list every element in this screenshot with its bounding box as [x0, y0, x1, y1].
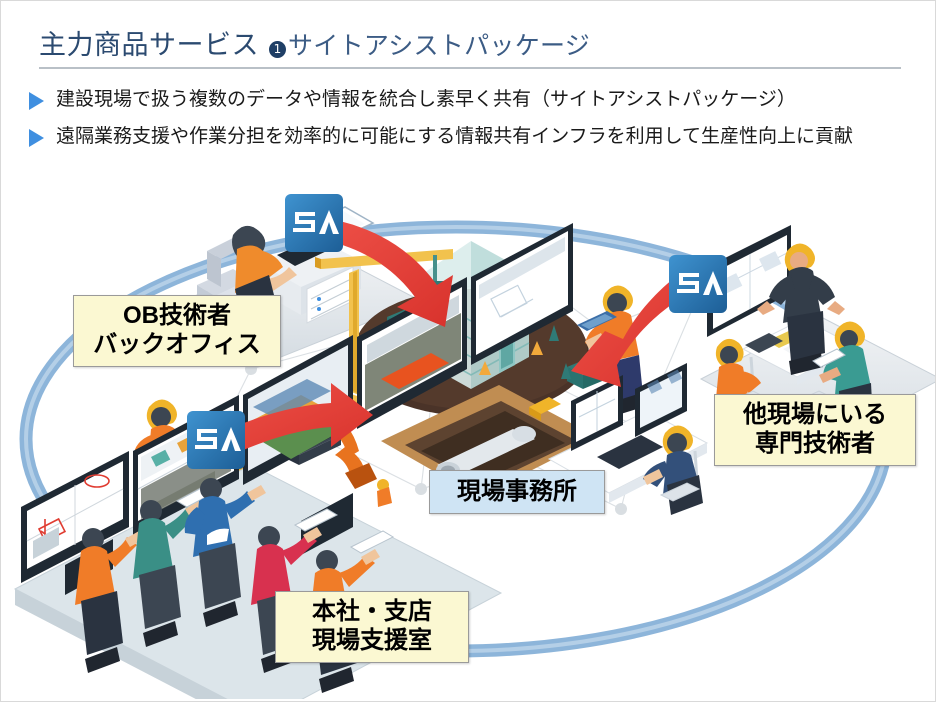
bullet-text: 建設現場で扱う複数のデータや情報を統合し素早く共有（サイトアシストパッケージ）: [56, 87, 796, 113]
label-line-1: OB技術者: [84, 301, 270, 330]
sa-badge-bottom: [187, 411, 245, 469]
label-ob-engineer: OB技術者 バックオフィス: [73, 295, 281, 367]
label-line-2: バックオフィス: [84, 330, 270, 359]
bullet-item: 遠隔業務支援や作業分担を効率的に可能にする情報共有インフラを利用して生産性向上に…: [25, 124, 925, 150]
label-line-1: 現場事務所: [440, 477, 594, 506]
bullet-list: 建設現場で扱う複数のデータや情報を統合し素早く共有（サイトアシストパッケージ） …: [25, 87, 925, 160]
label-line-1: 他現場にいる: [725, 400, 905, 429]
bullet-text: 遠隔業務支援や作業分担を効率的に可能にする情報共有インフラを利用して生産性向上に…: [56, 124, 853, 150]
triangle-bullet-icon: [29, 92, 44, 110]
label-site-office: 現場事務所: [429, 470, 605, 514]
label-line-2: 専門技術者: [725, 429, 905, 458]
label-other-site: 他現場にいる 専門技術者: [714, 394, 916, 466]
page-title: 主力商品サービス 1 サイトアシストパッケージ: [39, 23, 590, 62]
title-main-text: 主力商品サービス: [39, 23, 259, 62]
sa-badge-right: [669, 255, 727, 313]
triangle-bullet-icon: [29, 129, 44, 147]
label-headquarters: 本社・支店 現場支援室: [275, 591, 469, 663]
label-line-2: 現場支援室: [286, 626, 458, 655]
title-number-badge: 1: [269, 41, 286, 58]
label-line-1: 本社・支店: [286, 597, 458, 626]
title-sub-text: サイトアシストパッケージ: [288, 26, 590, 62]
title-divider: [39, 67, 901, 69]
bullet-item: 建設現場で扱う複数のデータや情報を統合し素早く共有（サイトアシストパッケージ）: [25, 87, 925, 113]
sa-badge-top: [285, 194, 343, 252]
slide: 主力商品サービス 1 サイトアシストパッケージ 建設現場で扱う複数のデータや情報…: [0, 0, 936, 702]
